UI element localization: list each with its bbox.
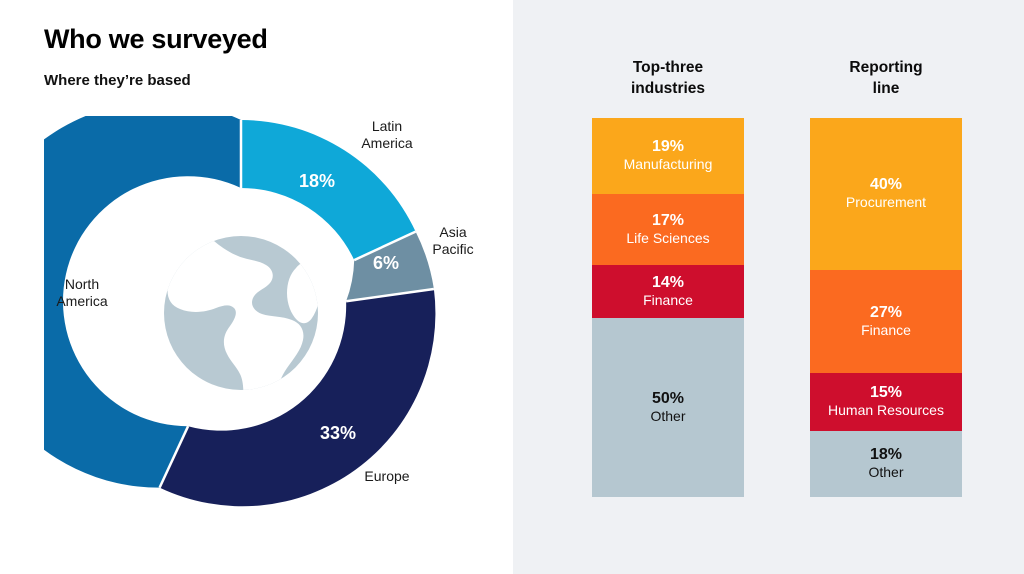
bar-segment-manufacturing[interactable]: 19% Manufacturing (592, 118, 744, 194)
bar-segment-label: Finance (643, 292, 693, 310)
bar-segment-label: Other (868, 464, 903, 482)
bar-segment-label: Procurement (846, 194, 926, 212)
donut-label-latin-america: Latin America (332, 118, 442, 152)
bar-segment-life-sciences[interactable]: 17% Life Sciences (592, 194, 744, 265)
donut-label-europe: Europe (334, 468, 440, 485)
bar-segment-pct: 27% (870, 304, 902, 322)
bar-stack: 19% Manufacturing 17% Life Sciences 14% … (592, 118, 744, 497)
donut-pct-latin-america: 18% (299, 171, 335, 191)
bar-segment-label: Finance (861, 322, 911, 340)
donut-pct-europe: 33% (320, 423, 356, 443)
bar-segment-other[interactable]: 50% Other (592, 318, 744, 497)
bar-segment-human-resources[interactable]: 15% Human Resources (810, 373, 962, 431)
bar-chart-heading: Top-three industries (592, 58, 744, 104)
donut-chart-svg: 18% 6% 33% 43% (44, 116, 438, 510)
bar-chart-reporting-line: Reporting line 40% Procurement 27% Finan… (810, 58, 962, 497)
bar-segment-pct: 18% (870, 446, 902, 464)
right-panel: Top-three industries 19% Manufacturing 1… (513, 0, 1024, 574)
bar-segment-pct: 17% (652, 212, 684, 230)
bar-segment-procurement[interactable]: 40% Procurement (810, 118, 962, 270)
infographic-page: Who we surveyed Where they’re based (0, 0, 1024, 574)
bar-segment-pct: 19% (652, 138, 684, 156)
bar-segment-finance[interactable]: 14% Finance (592, 265, 744, 318)
bar-chart-heading: Reporting line (810, 58, 962, 104)
donut-pct-asia-pacific: 6% (373, 253, 399, 273)
bar-segment-finance[interactable]: 27% Finance (810, 270, 962, 373)
donut-label-asia-pacific: Asia Pacific (410, 224, 496, 258)
page-title: Who we surveyed (44, 24, 268, 55)
bar-segment-other[interactable]: 18% Other (810, 431, 962, 497)
bar-segment-label: Life Sciences (626, 230, 709, 248)
bar-segment-pct: 14% (652, 274, 684, 292)
page-subtitle: Where they’re based (44, 72, 191, 89)
bar-segment-pct: 15% (870, 384, 902, 402)
bar-segment-label: Other (650, 408, 685, 426)
bar-segment-pct: 40% (870, 176, 902, 194)
bar-segment-label: Human Resources (828, 402, 944, 420)
left-panel: Who we surveyed Where they’re based (0, 0, 513, 574)
bar-segment-label: Manufacturing (624, 156, 713, 174)
bar-segment-pct: 50% (652, 390, 684, 408)
bar-chart-top-three-industries: Top-three industries 19% Manufacturing 1… (592, 58, 744, 497)
globe-icon (164, 236, 321, 420)
donut-label-north-america: North America (34, 276, 130, 310)
donut-chart: 18% 6% 33% 43% North America Latin Ameri… (44, 116, 438, 510)
bar-stack: 40% Procurement 27% Finance 15% Human Re… (810, 118, 962, 497)
